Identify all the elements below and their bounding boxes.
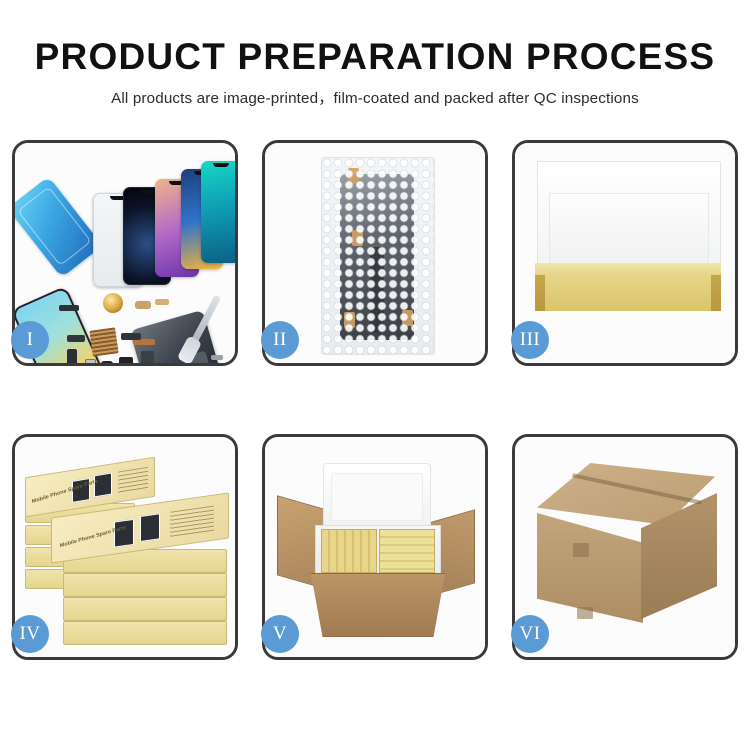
part-module-3	[141, 351, 154, 363]
screen-protector-film	[15, 176, 103, 277]
bubble-texture	[322, 158, 434, 354]
page-subtitle: All products are image-printed，film-coat…	[0, 86, 750, 108]
box-spec-lines-2	[170, 506, 214, 538]
box-art-swatch-4	[140, 513, 160, 542]
carton-tape-mark-2	[577, 607, 593, 619]
panel-5-image	[265, 437, 485, 657]
part-module-2	[101, 361, 113, 363]
yellow-boxes-group-1	[321, 529, 377, 573]
step-badge-5: V	[261, 615, 299, 653]
carton-with-boxes-illustration	[265, 437, 485, 657]
part-connector-2	[67, 335, 85, 342]
step-badge-2: II	[261, 321, 299, 359]
part-module-1	[67, 349, 77, 363]
step-badge-6: VI	[511, 615, 549, 653]
box-art-swatch-2	[94, 473, 112, 498]
part-connector-3	[121, 333, 141, 340]
stacked-retail-boxes-illustration: Mobile Phone Spare Parts Mobile Phone Sp…	[15, 437, 235, 657]
part-flex-cable-1	[135, 301, 151, 309]
process-step-panel-3[interactable]: III	[512, 140, 738, 366]
box-stack: Mobile Phone Spare Parts Mobile Phone Sp…	[21, 451, 235, 651]
page-header: PRODUCT PREPARATION PROCESS All products…	[0, 0, 750, 108]
yellow-box-base	[535, 269, 721, 311]
open-yellow-box-illustration	[515, 143, 735, 363]
box-spec-lines-1	[118, 467, 148, 494]
part-camera-module	[119, 357, 133, 363]
yellow-box-front-edge	[535, 263, 721, 275]
bubble-wrap-bag	[321, 157, 435, 355]
phone-screens-and-parts-illustration	[15, 143, 235, 363]
box-foam-liner	[549, 193, 709, 271]
carton-tape-mark-1	[573, 543, 589, 557]
panel-1-image	[15, 143, 235, 363]
speaker-coil-part	[103, 293, 123, 313]
process-step-panel-2[interactable]: II	[262, 140, 488, 366]
panel-2-image	[265, 143, 485, 363]
panel-6-image	[515, 437, 735, 657]
phone-display-teal	[201, 161, 235, 263]
stacked-box-fr-4	[63, 621, 227, 645]
step-badge-1: I	[11, 321, 49, 359]
page-title: PRODUCT PREPARATION PROCESS	[0, 38, 750, 77]
stacked-box-fr-2	[63, 573, 227, 597]
part-flex-cable-2	[155, 299, 169, 305]
yellow-boxes-group-2	[379, 529, 435, 573]
step-badge-4: IV	[11, 615, 49, 653]
step-badge-3: III	[511, 321, 549, 359]
stacked-box-fr-3	[63, 597, 227, 621]
process-steps-grid: I II	[12, 140, 738, 660]
chip-array-part	[89, 327, 118, 356]
part-battery-small	[85, 359, 96, 363]
panel-4-image: Mobile Phone Spare Parts Mobile Phone Sp…	[15, 437, 235, 657]
carton-body	[305, 573, 451, 637]
process-step-panel-4[interactable]: Mobile Phone Spare Parts Mobile Phone Sp…	[12, 434, 238, 660]
part-connector-1	[59, 305, 79, 311]
bubble-wrapped-screen-illustration	[265, 143, 485, 363]
process-step-panel-6[interactable]: VI	[512, 434, 738, 660]
part-screw-1	[211, 355, 223, 360]
panel-3-image	[515, 143, 735, 363]
process-step-panel-1[interactable]: I	[12, 140, 238, 366]
sealed-carton-illustration	[515, 437, 735, 657]
foam-lid-inner	[331, 473, 423, 521]
process-step-panel-5[interactable]: V	[262, 434, 488, 660]
